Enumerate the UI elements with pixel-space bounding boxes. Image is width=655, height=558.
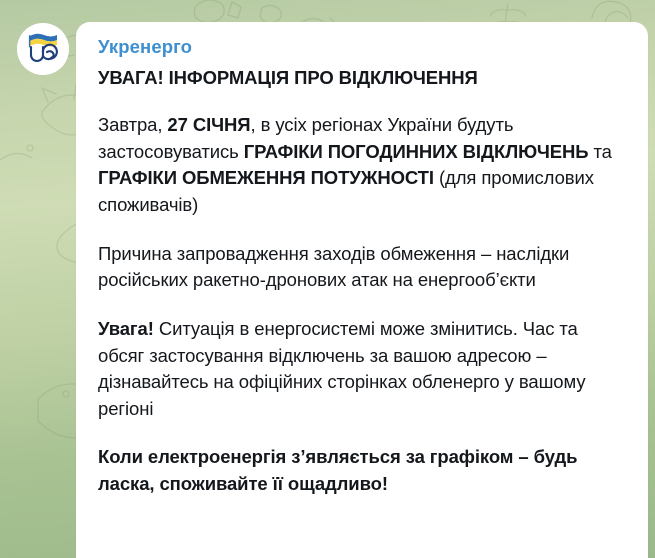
message-heading: УВАГА! ІНФОРМАЦІЯ ПРО ВІДКЛЮЧЕННЯ [98, 66, 626, 90]
message-paragraph-1: Завтра, 27 СІЧНЯ, в усіх регіонах Україн… [98, 112, 626, 219]
message-paragraph-4: Коли електроенергія з’являється за графі… [98, 444, 626, 497]
avatar[interactable] [17, 23, 69, 75]
message-bubble[interactable]: Укренерго УВАГА! ІНФОРМАЦІЯ ПРО ВІДКЛЮЧЕ… [76, 22, 648, 558]
sender-name[interactable]: Укренерго [98, 35, 626, 58]
message-paragraph-3: Увага! Ситуація в енергосистемі може змі… [98, 316, 626, 423]
message-paragraph-2: Причина запровадження заходів обмеження … [98, 241, 626, 294]
